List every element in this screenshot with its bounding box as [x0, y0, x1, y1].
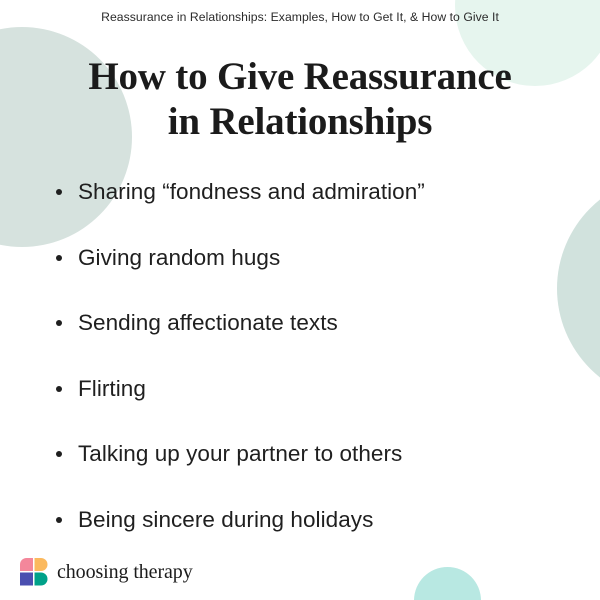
list-item: Giving random hugs: [52, 244, 562, 272]
reassurance-list: Sharing “fondness and admiration” Giving…: [52, 178, 562, 534]
list-item-label: Flirting: [78, 376, 146, 401]
list-item: Flirting: [52, 375, 562, 403]
list-item: Being sincere during holidays: [52, 506, 562, 534]
bullet-dot-icon: [56, 189, 62, 195]
bullet-dot-icon: [56, 320, 62, 326]
breadcrumb: Reassurance in Relationships: Examples, …: [0, 9, 600, 25]
list-item: Sharing “fondness and admiration”: [52, 178, 562, 206]
circle-right-decor-icon: [557, 175, 600, 402]
page-title-line-1: How to Give Reassurance: [88, 55, 511, 98]
list-item: Sending affectionate texts: [52, 309, 562, 337]
page-title: How to Give Reassurance in Relationships: [30, 54, 570, 144]
list-item-label: Being sincere during holidays: [78, 507, 373, 532]
list-item-label: Giving random hugs: [78, 245, 280, 270]
list-item-label: Sharing “fondness and admiration”: [78, 179, 425, 204]
logo-wordmark: choosing therapy: [57, 562, 193, 582]
slide-canvas: Reassurance in Relationships: Examples, …: [0, 0, 600, 600]
list-item-label: Sending affectionate texts: [78, 310, 338, 335]
bullet-dot-icon: [56, 451, 62, 457]
choosing-therapy-logo-icon: [19, 557, 48, 586]
page-title-line-2: in Relationships: [168, 100, 432, 143]
list-item: Talking up your partner to others: [52, 440, 562, 468]
circle-bottom-decor-icon: [414, 567, 481, 600]
choosing-therapy-logo[interactable]: choosing therapy: [19, 557, 193, 586]
bullet-dot-icon: [56, 386, 62, 392]
list-item-label: Talking up your partner to others: [78, 441, 402, 466]
bullet-dot-icon: [56, 255, 62, 261]
bullet-dot-icon: [56, 517, 62, 523]
